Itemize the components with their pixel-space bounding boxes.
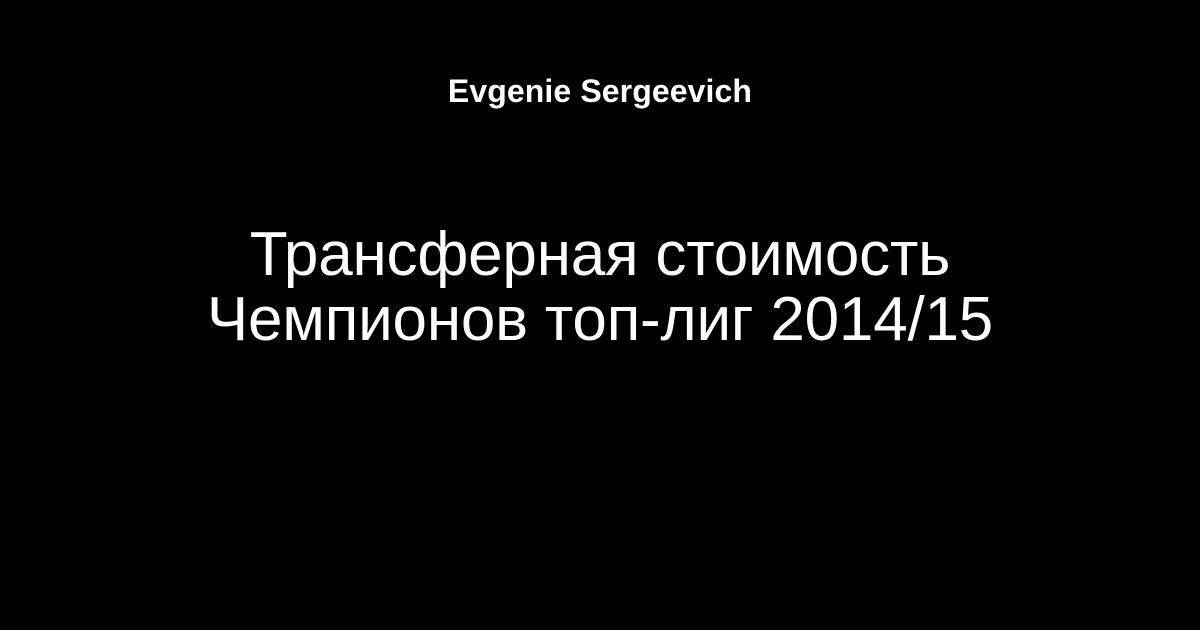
author-byline: Evgenie Sergeevich [448,70,752,112]
page-title-line-2: Чемпионов топ-лиг 2014/15 [0,287,1200,352]
byline-row: Evgenie Sergeevich [0,70,1200,112]
title-block: Трансферная стоимость Чемпионов топ-лиг … [0,222,1200,352]
page-title-line-1: Трансферная стоимость [0,222,1200,287]
title-slide: Evgenie Sergeevich Трансферная стоимость… [0,0,1200,630]
page-title: Трансферная стоимость Чемпионов топ-лиг … [0,222,1200,352]
